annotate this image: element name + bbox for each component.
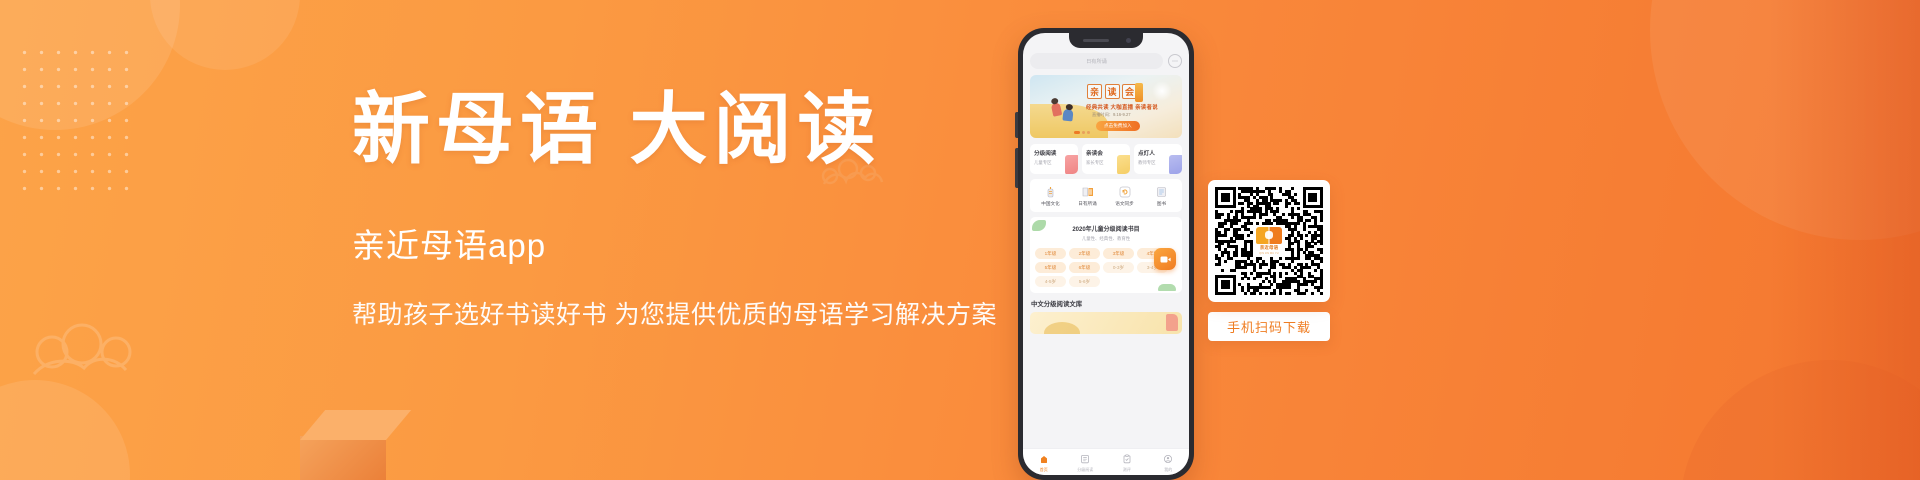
app-name: 亲近母语app: [352, 219, 1012, 267]
search-row: 日有所诵 ⋯: [1030, 53, 1182, 69]
qr-logo: 亲近母语 QIN JIN MU YU: [1253, 225, 1285, 257]
tab-reading[interactable]: 分级阅读: [1065, 454, 1107, 473]
qr-logo-name: 亲近母语: [1260, 245, 1278, 251]
grade-pill[interactable]: 6年级: [1069, 262, 1100, 273]
hero-title-char: 读: [1105, 84, 1120, 99]
quick-link-label: 图书: [1157, 201, 1166, 207]
category-card[interactable]: 亲读会 家长专区: [1082, 144, 1130, 174]
hero-date: 直播时间：9.16-9.27: [1092, 112, 1131, 118]
tab-label: 测评: [1123, 467, 1131, 473]
phone-screen: 日有所诵 ⋯ 亲 读 会: [1023, 33, 1189, 475]
search-input[interactable]: 日有所诵: [1030, 53, 1163, 69]
category-card[interactable]: 点灯人 教师专区: [1134, 144, 1182, 174]
arc-decor: [1044, 322, 1080, 334]
book-logo-icon: [1256, 227, 1282, 244]
user-icon: [1163, 454, 1174, 465]
page-decor: [1166, 314, 1178, 331]
hero-subtitle: 经典共读 大咖直播 亲读者说: [1086, 103, 1158, 111]
message-icon[interactable]: ⋯: [1168, 54, 1182, 68]
decor-gradient: [1770, 0, 1920, 480]
tab-home[interactable]: 首页: [1023, 454, 1065, 473]
dot-pattern: [16, 44, 136, 194]
hero-title: 亲 读 会: [1087, 84, 1137, 99]
decor-blob: [150, 0, 300, 70]
download-button[interactable]: 手机扫码下载: [1208, 312, 1330, 341]
booklist-subtitle: 儿童性、经典性、教育性: [1035, 236, 1177, 242]
sync-icon: [1118, 185, 1131, 198]
quick-link-culture[interactable]: 中国文化: [1032, 185, 1069, 207]
qr-code[interactable]: 亲近母语 QIN JIN MU YU: [1208, 180, 1330, 302]
category-cards: 分级阅读 儿童专区 亲读会 家长专区 点灯人 教师专区: [1030, 144, 1182, 174]
hero-banner-card[interactable]: 亲 读 会 经典共读 大咖直播 亲读者说 直播时间：9.16-9.27 点击免费…: [1030, 75, 1182, 138]
decor-blob: [0, 380, 130, 480]
age-pill[interactable]: 5-6岁: [1069, 276, 1100, 287]
age-pill[interactable]: 4-5岁: [1035, 276, 1066, 287]
quick-link-recite[interactable]: 日有所诵: [1069, 185, 1106, 207]
phone-mockup: 日有所诵 ⋯ 亲 读 会: [1018, 28, 1194, 480]
booklist-section: 2020年儿童分级阅读书目 儿童性、经典性、教育性 1年级 2年级 3年级 4年…: [1030, 217, 1182, 293]
banner-copy: 新母语 大阅读 亲近母语app 帮助孩子选好书读好书 为您提供优质的母语学习解决…: [352, 86, 1012, 331]
library-section: 中文分级阅读文库: [1030, 299, 1182, 334]
bookmark-icon: [1169, 155, 1182, 174]
quick-link-label: 日有所诵: [1078, 201, 1096, 207]
tab-label: 分级阅读: [1077, 467, 1093, 473]
cloud-icon: [30, 318, 150, 388]
booklist-title: 2020年儿童分级阅读书目: [1035, 224, 1177, 233]
tab-label: 首页: [1040, 467, 1048, 473]
quick-link-label: 中国文化: [1041, 201, 1059, 207]
quick-link-sync[interactable]: 语文同步: [1106, 185, 1143, 207]
age-pill[interactable]: 0-3岁: [1103, 262, 1134, 273]
grade-pill[interactable]: 5年级: [1035, 262, 1066, 273]
home-icon: [1038, 454, 1049, 465]
search-placeholder: 日有所诵: [1086, 58, 1107, 65]
promo-banner: 新母语 大阅读 亲近母语app 帮助孩子选好书读好书 为您提供优质的母语学习解决…: [0, 0, 1920, 480]
clipboard-icon: [1121, 454, 1132, 465]
grade-pill[interactable]: 3年级: [1103, 248, 1134, 259]
bookmark-icon: [1065, 155, 1078, 174]
qr-section: 亲近母语 QIN JIN MU YU 手机扫码下载: [1208, 180, 1330, 341]
hero-ribbon: [1135, 83, 1143, 102]
grade-pill[interactable]: 1年级: [1035, 248, 1066, 259]
grade-pill-group: 1年级 2年级 3年级 4年级 5年级 6年级 0-3岁 3-4岁 4-5岁 5…: [1035, 248, 1177, 287]
phone-notch: [1069, 33, 1143, 48]
library-card[interactable]: [1030, 312, 1182, 334]
phone-frame: 日有所诵 ⋯ 亲 读 会: [1018, 28, 1194, 480]
tab-label: 我的: [1164, 467, 1172, 473]
quick-link-books[interactable]: 图书: [1143, 185, 1180, 207]
video-play-button[interactable]: [1154, 248, 1176, 270]
sun-icon: [1152, 81, 1172, 101]
list-icon: [1080, 454, 1091, 465]
leaf-icon: [1158, 284, 1176, 291]
culture-icon: [1044, 185, 1057, 198]
bookmark-icon: [1117, 155, 1130, 174]
library-title: 中文分级阅读文库: [1030, 299, 1182, 308]
qr-logo-pinyin: QIN JIN MU YU: [1259, 252, 1278, 255]
tab-profile[interactable]: 我的: [1148, 454, 1190, 473]
tagline: 帮助孩子选好书读好书 为您提供优质的母语学习解决方案: [352, 295, 1012, 331]
video-play-icon: [1160, 255, 1171, 264]
hero-title-char: 亲: [1087, 84, 1102, 99]
quick-link-label: 语文同步: [1115, 201, 1133, 207]
decor-cube: [300, 436, 386, 480]
grade-pill[interactable]: 2年级: [1069, 248, 1100, 259]
quick-link-row: 中国文化 日有所诵: [1030, 179, 1182, 212]
carousel-dots[interactable]: [1074, 131, 1090, 134]
child-illustration: [1062, 109, 1073, 122]
books-icon: [1155, 185, 1168, 198]
tab-assessment[interactable]: 测评: [1106, 454, 1148, 473]
category-card[interactable]: 分级阅读 儿童专区: [1030, 144, 1078, 174]
book-open-icon: [1081, 185, 1094, 198]
hero-join-button[interactable]: 点击免费加入: [1096, 121, 1140, 131]
bottom-tab-bar: 首页 分级阅读: [1023, 448, 1189, 475]
page-title: 新母语 大阅读: [352, 86, 1012, 173]
